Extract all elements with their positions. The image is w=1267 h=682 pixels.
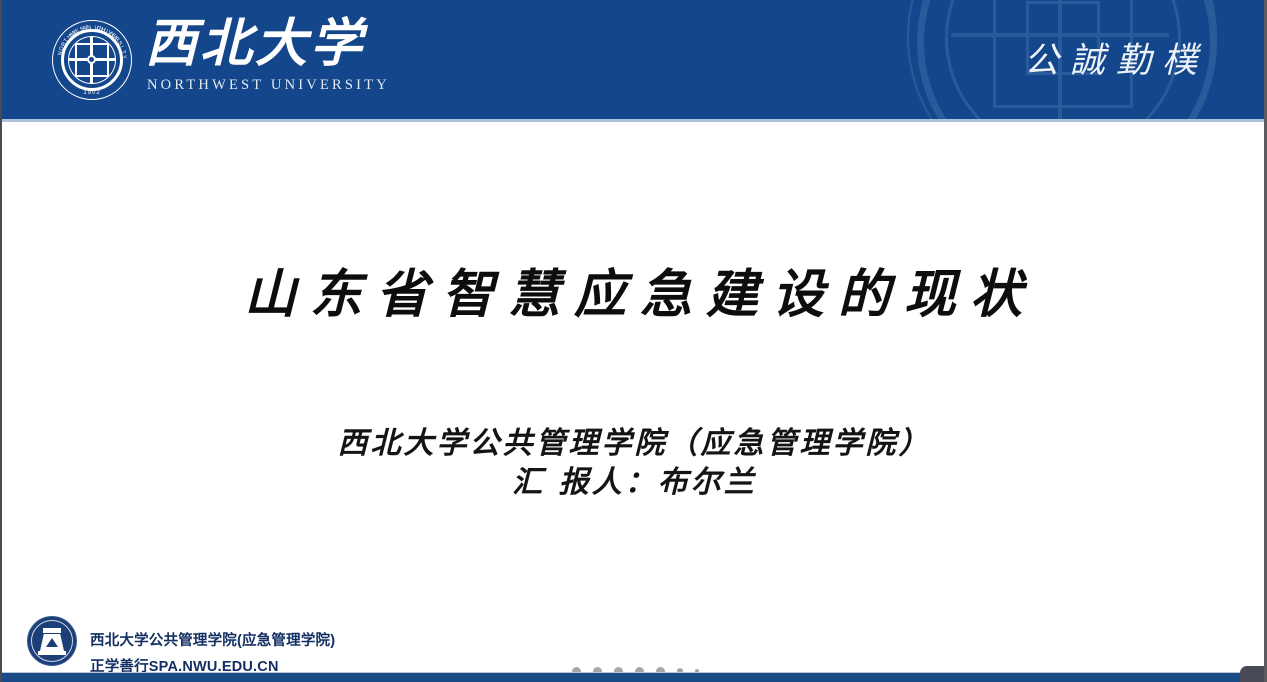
subtitle-block: 西北大学公共管理学院（应急管理学院） 汇 报人：布尔兰 bbox=[2, 424, 1264, 502]
header-divider bbox=[2, 119, 1264, 122]
school-emblem-icon bbox=[27, 616, 77, 666]
university-motto: 公誠勤樸 bbox=[1024, 32, 1208, 83]
slide-title: 山东省智慧应急建设的现状 bbox=[2, 252, 1264, 327]
header-banner: 1902 NORTHWEST UNIVERSITYXI AN CHINA 西北大… bbox=[2, 0, 1264, 119]
bottom-bar bbox=[2, 673, 1264, 682]
subtitle-presenter: 汇 报人：布尔兰 bbox=[2, 463, 1264, 502]
footer-line-1: 西北大学公共管理学院(应急管理学院) bbox=[90, 628, 335, 654]
university-wordmark-en: NORTHWEST UNIVERSITY bbox=[147, 77, 390, 94]
subtitle-organization: 西北大学公共管理学院（应急管理学院） bbox=[2, 424, 1264, 463]
university-wordmark-cn: 西北大学 bbox=[145, 14, 365, 74]
seal-ring-text: NORTHWEST UNIVERSITYXI AN CHINA bbox=[52, 20, 132, 100]
presentation-slide: 1902 NORTHWEST UNIVERSITYXI AN CHINA 西北大… bbox=[0, 0, 1267, 682]
university-seal-icon: 1902 NORTHWEST UNIVERSITYXI AN CHINA bbox=[52, 20, 132, 100]
video-control-overlay[interactable] bbox=[1240, 666, 1264, 682]
